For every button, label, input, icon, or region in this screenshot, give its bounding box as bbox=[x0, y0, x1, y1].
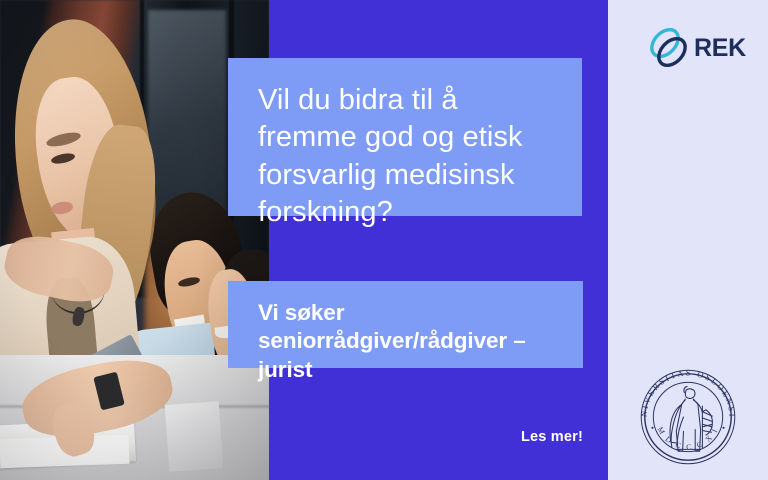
svg-text:M D C C C X I: M D C C C X I bbox=[656, 425, 721, 451]
headline-box: Vil du bidra til å fremme god og etisk f… bbox=[228, 58, 582, 216]
rek-wordmark: REK bbox=[694, 36, 746, 61]
job-title-box: Vi søker seniorrådgiver/rådgiver – juris… bbox=[228, 281, 583, 368]
read-more-link[interactable]: Les mer! bbox=[418, 429, 583, 445]
job-title-text: Vi søker seniorrådgiver/rådgiver – juris… bbox=[258, 299, 559, 384]
rek-interlocking-ellipses-icon bbox=[646, 26, 692, 70]
recruitment-banner: Vil du bidra til å fremme god og etisk f… bbox=[0, 0, 768, 480]
headline-text: Vil du bidra til å fremme god og etisk f… bbox=[258, 82, 556, 232]
rek-logo[interactable]: REK bbox=[646, 26, 746, 70]
right-logo-panel: REK UNIVERSITAS OSLOENSIS M D C C C X I bbox=[608, 0, 768, 480]
uio-seal-icon: UNIVERSITAS OSLOENSIS M D C C C X I bbox=[634, 363, 742, 471]
uio-seal: UNIVERSITAS OSLOENSIS M D C C C X I bbox=[634, 363, 742, 471]
svg-text:UNIVERSITAS OSLOENSIS: UNIVERSITAS OSLOENSIS bbox=[634, 363, 736, 419]
